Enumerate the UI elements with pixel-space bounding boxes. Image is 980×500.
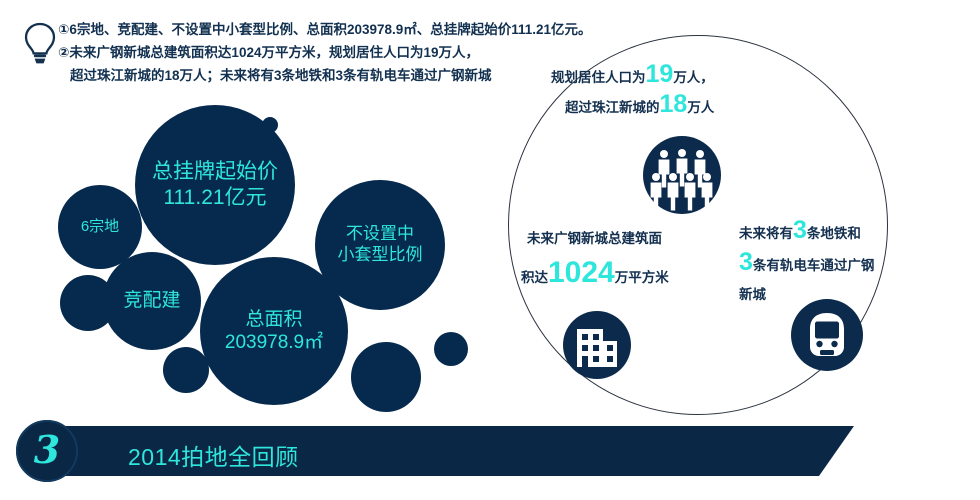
section-banner: 3 2014拍地全回顾 (16, 420, 866, 482)
people-group-icon (643, 136, 721, 214)
bubble-deco-2 (163, 347, 209, 393)
zhujiang-population-value: 18 (660, 90, 688, 118)
buildings-icon (563, 311, 631, 379)
bubble-total-area-label: 总面积203978.9㎡ (221, 308, 327, 354)
transit-line-3: 新城 (739, 282, 766, 308)
bubble-deco-4 (434, 332, 468, 366)
metro-train-icon (791, 299, 863, 371)
population-line-1: 规划居住人口为19万人， (551, 62, 714, 91)
bubble-bid-build-label: 竞配建 (119, 289, 184, 312)
bubble-no-small-unit-label: 不设置中小套型比例 (334, 224, 427, 265)
tram-line-count: 3 (739, 248, 753, 276)
transit-line-2: 3条有轨电车通过广钢 (739, 250, 874, 279)
metro-line-count: 3 (793, 216, 807, 244)
bubble-bid-build: 竞配建 (103, 252, 201, 350)
bubble-total-area: 总面积203978.9㎡ (200, 257, 348, 405)
population-line-2: 超过珠江新城的18万人 (565, 92, 714, 121)
transit-line-1: 未来将有3条地铁和 (739, 218, 861, 247)
bubble-deco-1 (60, 275, 116, 331)
area-line-2: 积达1024万平方米 (521, 258, 669, 291)
area-value: 1024 (548, 256, 615, 289)
area-line-1: 未来广钢新城总建筑面 (527, 226, 662, 252)
slide-canvas: ①6宗地、竞配建、不设置中小套型比例、总面积203978.9㎡、总挂牌起始价11… (0, 0, 980, 500)
population-value: 19 (646, 60, 674, 88)
banner-badge-ring (16, 420, 78, 482)
note-line-1: ①6宗地、竞配建、不设置中小套型比例、总面积203978.9㎡、总挂牌起始价11… (58, 18, 878, 41)
bubble-listing-price-label: 总挂牌起始价111.21亿元 (148, 159, 282, 210)
banner-title: 2014拍地全回顾 (128, 438, 299, 472)
bubble-cluster: 6宗地总挂牌起始价111.21亿元不设置中小套型比例竞配建总面积203978.9… (0, 95, 480, 405)
lightbulb-icon (20, 20, 60, 66)
bubble-deco-3 (351, 342, 421, 412)
bubble-6-plots-label: 6宗地 (77, 218, 123, 236)
bubble-deco-5 (262, 117, 278, 133)
stats-circle: 规划居住人口为19万人， 超过珠江新城的18万人 (508, 35, 888, 415)
